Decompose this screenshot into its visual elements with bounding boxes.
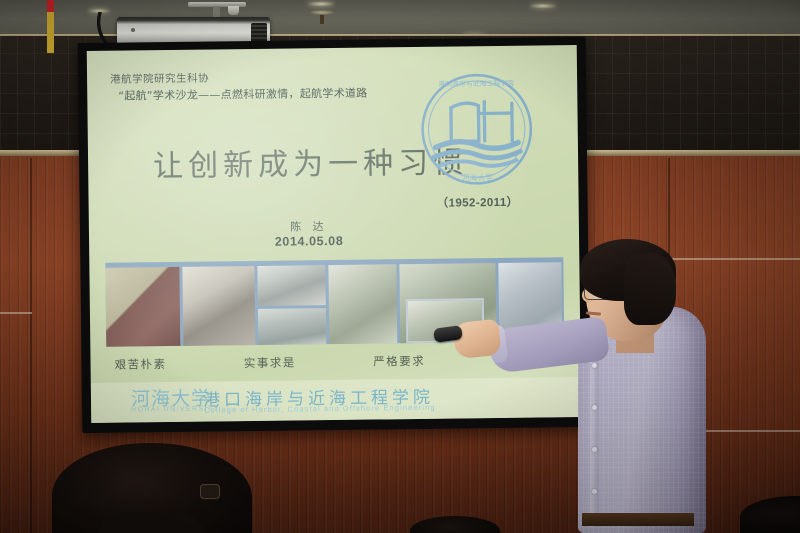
presenter-hand: [452, 319, 502, 360]
sprinkler-head: [320, 12, 324, 24]
svg-text:河海大学: 河海大学: [462, 172, 494, 182]
presenter: [520, 245, 760, 533]
slide-header-line2: “起航”学术沙龙——点燃科研激情，起航学术道路: [118, 85, 367, 104]
motto-item-1: 艰苦朴素: [114, 356, 166, 373]
mount-cap: [228, 6, 239, 15]
presenter-hair-back: [624, 253, 676, 325]
collage-photo: [105, 267, 180, 347]
shirt-button: [592, 489, 597, 494]
presenter-mouth: [586, 311, 601, 315]
slide-speaker-name: 陈 达: [249, 218, 369, 235]
college-emblem: 河海大学 港口海岸与近海工程学院: [417, 70, 536, 189]
shirt-button: [592, 363, 597, 368]
motto-item-2: 实事求是: [244, 354, 296, 371]
lecture-hall-scene: 港航学院研究生科协 “起航”学术沙龙——点燃科研激情，起航学术道路 让创新成为一…: [0, 0, 800, 533]
collage-photo: [328, 264, 397, 344]
ceiling-downlight: [308, 1, 334, 7]
shirt-button: [592, 447, 597, 452]
slide-header-line1: 港航学院研究生科协: [110, 71, 209, 87]
svg-text:港口海岸与近海工程学院: 港口海岸与近海工程学院: [438, 79, 514, 89]
motto-item-3: 严格要求: [373, 353, 425, 370]
slide-date: 2014.05.08: [249, 234, 369, 249]
wall-pole: [47, 0, 54, 53]
emblem-year-range: （1952-2011）: [411, 193, 545, 211]
projection-screen-frame: 港航学院研究生科协 “起航”学术沙龙——点燃科研激情，起航学术道路 让创新成为一…: [78, 37, 591, 433]
collage-photo: [258, 308, 326, 345]
collage-photo: [257, 265, 325, 306]
shirt-button: [592, 405, 597, 410]
panel-trim-line: [0, 312, 32, 314]
audience-eyeglasses: [200, 484, 220, 499]
audience-member-neck: [96, 512, 206, 533]
presenter-belt: [582, 513, 694, 526]
collage-photo: [182, 266, 255, 346]
ceiling-downlight: [530, 3, 556, 9]
projector-mount: [188, 0, 246, 16]
panel-seam: [30, 158, 32, 533]
